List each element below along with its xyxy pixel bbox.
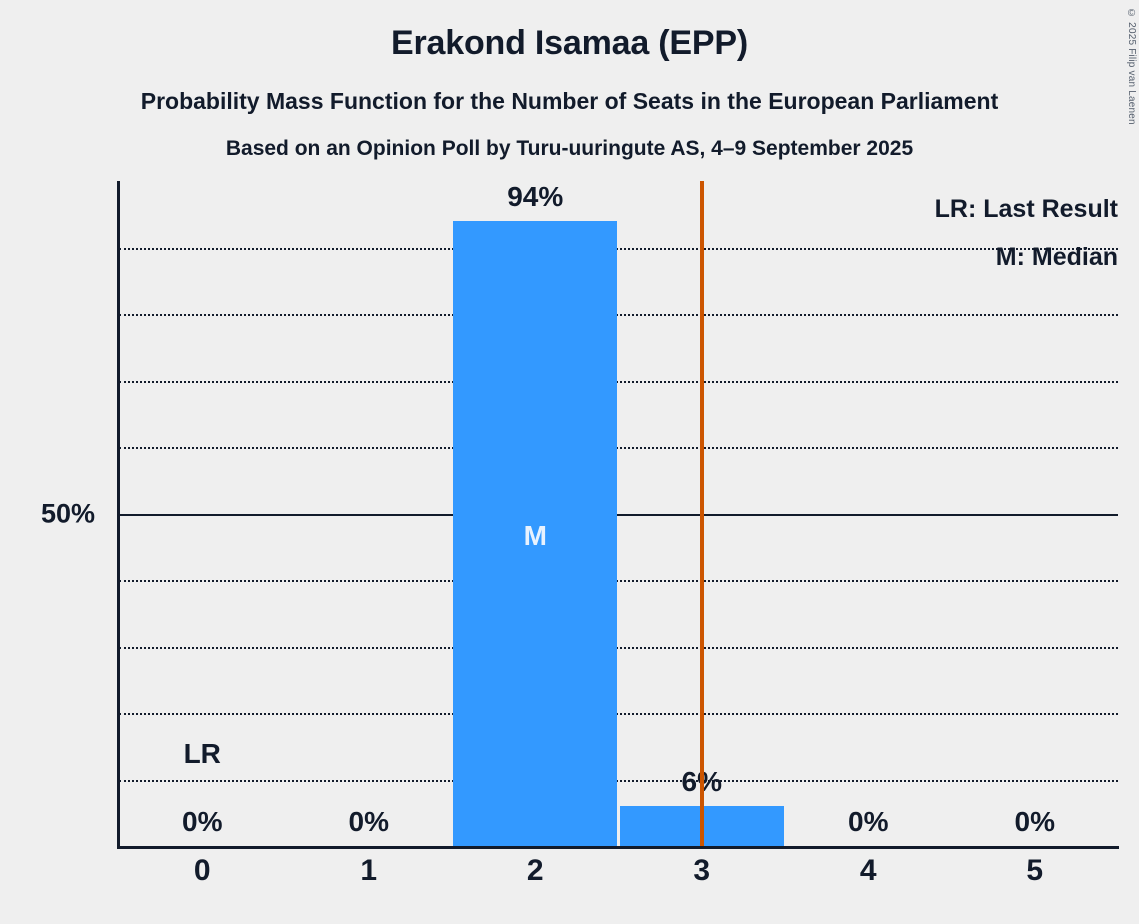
x-axis-tick-label: 0 [119,854,286,888]
page-title: Erakond Isamaa (EPP) [0,24,1139,63]
gridline-80 [119,314,1118,316]
bar-value-label: 0% [119,806,286,838]
x-axis-tick-label: 1 [286,854,453,888]
chart-source-line: Based on an Opinion Poll by Turu-uuringu… [0,137,1139,161]
bar-value-label: 94% [452,181,619,213]
x-axis-tick-label: 4 [785,854,952,888]
plot-area: 50% 0%0%94%6%0%0%MLR 012345 [119,181,1118,846]
gridline-20 [119,713,1118,715]
last-result-marker: LR [119,738,286,770]
x-axis-line [117,846,1119,849]
x-axis-tick-label: 5 [952,854,1119,888]
gridline-40 [119,580,1118,582]
chart-root: Erakond Isamaa (EPP) Probability Mass Fu… [0,0,1139,924]
last-result-line [700,181,704,846]
y-axis-tick-label: 50% [0,498,95,529]
gridline-50 [119,514,1118,516]
bar-value-label: 0% [785,806,952,838]
gridline-70 [119,381,1118,383]
gridline-90 [119,248,1118,250]
gridline-60 [119,447,1118,449]
median-marker: M [452,520,619,552]
gridline-30 [119,647,1118,649]
x-axis-tick-label: 3 [619,854,786,888]
bar-value-label: 0% [286,806,453,838]
x-axis-tick-label: 2 [452,854,619,888]
chart-subtitle: Probability Mass Function for the Number… [0,88,1139,115]
copyright-notice: © 2025 Filip van Laenen [1117,8,1137,208]
bar-value-label: 0% [952,806,1119,838]
